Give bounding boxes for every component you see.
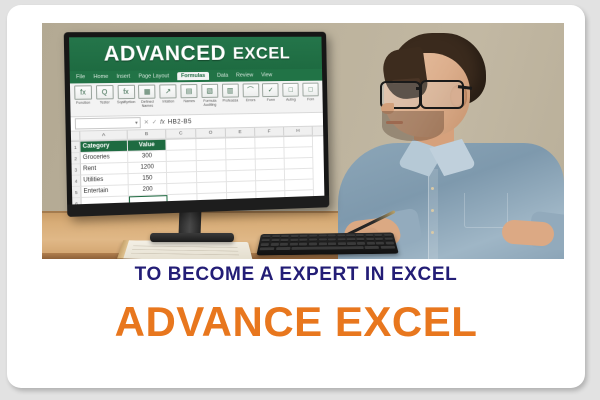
beard	[382, 111, 444, 141]
key	[270, 243, 279, 246]
row-header-5[interactable]: 5	[72, 187, 82, 199]
confirm-check-icon[interactable]: ✓	[152, 119, 157, 126]
key	[380, 246, 395, 249]
shirt-placket	[428, 169, 438, 259]
ribbon-button-label: Function	[76, 101, 90, 105]
ribbon-button-profeassa[interactable]: ▥Profeassa	[221, 84, 240, 103]
cell-C2[interactable]	[167, 150, 197, 162]
subheadline-text: TO BECOME A EXPERT IN EXCEL	[7, 264, 585, 286]
key	[290, 239, 298, 242]
ribbon-tab-home[interactable]: Home	[93, 74, 108, 80]
ribbon-button-function[interactable]: fxFunction	[73, 85, 93, 105]
grid-body[interactable]: 1CategoryValue2Groceries3003Rent12004Uti…	[71, 136, 324, 204]
ribbon-tab-page-layout[interactable]: Page Layout	[138, 73, 169, 79]
key	[328, 238, 336, 241]
key	[300, 239, 308, 242]
column-header-F[interactable]: F	[255, 127, 284, 136]
chevron-down-icon[interactable]: ▾	[135, 120, 138, 126]
key	[319, 234, 327, 237]
key	[272, 235, 280, 238]
keyboard[interactable]	[256, 233, 398, 256]
cell-H1[interactable]	[284, 136, 313, 147]
key	[276, 247, 291, 250]
cell-E1[interactable]	[226, 138, 255, 150]
shirt-pocket	[464, 193, 508, 228]
ribbon-button-label: Forn	[307, 97, 314, 101]
ribbon-button-label: Profeassa	[222, 98, 238, 102]
lips	[386, 121, 403, 124]
column-header-C[interactable]: C	[166, 129, 196, 139]
cell-C3[interactable]	[167, 161, 197, 173]
ribbon-icon: Q	[96, 85, 114, 99]
cell-E3[interactable]	[226, 159, 255, 171]
hero-photo: ADVANCED EXCEL FileHomeInsertPage Layout…	[42, 23, 564, 259]
ribbon-tab-formulas[interactable]: Formulas	[177, 72, 209, 80]
key	[347, 242, 355, 245]
key	[356, 234, 364, 237]
key	[357, 242, 365, 245]
computer-monitor: ADVANCED EXCEL FileHomeInsertPage Layout…	[64, 32, 330, 217]
key	[290, 243, 298, 246]
ribbon-button-form[interactable]: ✓Form	[261, 83, 280, 102]
ribbon-command-strip: fxFunctionQTesterfxSqalfiyrtion▦Defined …	[70, 81, 323, 118]
key	[337, 234, 345, 237]
ribbon-tab-insert[interactable]: Insert	[116, 74, 130, 80]
ribbon-button-tester[interactable]: QTester	[95, 85, 115, 105]
notebook-rule	[131, 253, 239, 255]
ribbon-button-label: Formula Auditing	[201, 99, 220, 108]
ribbon-button-label: Names	[183, 99, 194, 103]
hand-left	[501, 219, 555, 247]
ribbon-icon: ▤	[180, 84, 197, 98]
eyeglasses-bridge	[416, 87, 422, 90]
spreadsheet-grid[interactable]: ABCOEFH 1CategoryValue2Groceries3003Rent…	[71, 126, 324, 204]
headline-text: ADVANCE EXCEL	[7, 298, 585, 346]
ribbon-button-forn[interactable]: □Forn	[302, 83, 320, 102]
grid-corner-cell[interactable]	[71, 131, 81, 140]
key	[261, 239, 270, 242]
key	[338, 238, 346, 241]
ribbon-button-label: Auting	[286, 98, 296, 102]
key	[281, 235, 289, 238]
key	[260, 243, 269, 246]
formula-input[interactable]: HB2-B5	[168, 118, 192, 125]
key	[299, 243, 307, 246]
ribbon-icon: ✓	[262, 83, 279, 97]
ribbon-button-formula-auditing[interactable]: ▧Formula Auditing	[200, 84, 219, 107]
ribbon-button-defined-names[interactable]: ▦Defined Names	[137, 85, 157, 109]
insert-function-icon[interactable]: fx	[160, 119, 165, 125]
row-header-1[interactable]: 1	[71, 142, 81, 153]
ribbon-icon: ▦	[138, 85, 155, 99]
column-header-O[interactable]: O	[196, 128, 226, 138]
ribbon-tab-data[interactable]: Data	[217, 73, 228, 79]
notebook-rule	[132, 249, 238, 251]
ribbon-icon: ⌒	[242, 83, 259, 97]
ribbon-tab-file[interactable]: File	[76, 74, 85, 80]
key	[280, 243, 288, 246]
cell-F3[interactable]	[256, 159, 285, 171]
row-header-2[interactable]: 2	[71, 153, 81, 165]
key	[338, 242, 346, 245]
key	[347, 234, 355, 237]
ribbon-button-intation[interactable]: ↗Intation	[159, 84, 178, 104]
column-header-E[interactable]: E	[226, 128, 255, 138]
banner-word-excel: EXCEL	[233, 43, 291, 63]
key	[271, 239, 279, 242]
column-header-B[interactable]: B	[128, 130, 167, 140]
ribbon-button-label: Defined Names	[138, 100, 157, 109]
cell-C1[interactable]	[166, 139, 196, 151]
keyboard-row	[257, 245, 397, 251]
key	[300, 235, 308, 238]
ribbon-button-names[interactable]: ▤Names	[179, 84, 198, 103]
ribbon-tab-review[interactable]: Review	[236, 72, 253, 78]
key	[309, 243, 317, 246]
cell-O3[interactable]	[197, 160, 227, 172]
ribbon-icon: □	[282, 83, 299, 97]
ribbon-icon: ▥	[222, 84, 239, 98]
ribbon-icon: fx	[74, 85, 92, 100]
monitor-stand-base	[150, 233, 234, 242]
key	[366, 242, 375, 245]
key	[309, 238, 317, 241]
key	[386, 242, 395, 245]
ribbon-button-label: Errors	[246, 98, 256, 102]
ribbon-button-label: Tester	[100, 100, 110, 104]
ribbon-icon: fx	[117, 85, 135, 99]
cell-F2[interactable]	[255, 148, 284, 160]
ribbon-button-label: Intation	[162, 99, 174, 103]
excel-title-banner: ADVANCED EXCEL	[69, 37, 322, 71]
key	[259, 247, 274, 250]
cell-O2[interactable]	[197, 149, 227, 161]
cell-O1[interactable]	[196, 138, 226, 150]
ribbon-button-label: Sqalfiyrtion	[117, 100, 135, 104]
column-header-A[interactable]: A	[80, 131, 128, 141]
monitor-screen: ADVANCED EXCEL FileHomeInsertPage Layout…	[69, 37, 324, 205]
person-figure	[332, 23, 564, 259]
key	[309, 234, 317, 237]
cell-H3[interactable]	[285, 158, 314, 170]
column-header-H[interactable]: H	[284, 127, 313, 136]
ribbon-tab-view[interactable]: View	[261, 72, 272, 78]
key	[319, 238, 327, 241]
ribbon-icon: ↗	[159, 84, 176, 98]
cell-F1[interactable]	[255, 137, 284, 149]
cancel-icon[interactable]: ✕	[144, 119, 149, 126]
ribbon-icon: ▧	[201, 84, 218, 98]
ribbon-button-auting[interactable]: □Auting	[282, 83, 300, 102]
key	[262, 235, 270, 238]
name-box[interactable]: ▾	[75, 117, 141, 129]
key	[375, 238, 384, 241]
notebook-rule	[133, 246, 237, 248]
ribbon-button-label: Form	[267, 98, 275, 102]
key	[356, 238, 364, 241]
key	[328, 234, 336, 237]
row-header-3[interactable]: 3	[72, 164, 82, 176]
ribbon-button-sqalfiyrtion[interactable]: fxSqalfiyrtion	[116, 85, 136, 105]
cell-H2[interactable]	[284, 147, 313, 159]
key	[385, 238, 394, 241]
key	[366, 238, 374, 241]
key	[365, 234, 373, 237]
cell-E2[interactable]	[226, 149, 255, 161]
banner-word-advanced: ADVANCED	[104, 41, 227, 66]
key	[347, 238, 355, 241]
key	[376, 242, 385, 245]
row-header-4[interactable]: 4	[72, 175, 82, 187]
key	[374, 234, 382, 237]
ribbon-button-errors[interactable]: ⌒Errors	[241, 83, 260, 102]
key	[319, 242, 327, 245]
key	[384, 234, 392, 237]
slide-card: ADVANCED EXCEL FileHomeInsertPage Layout…	[7, 5, 585, 388]
spacebar-key	[292, 246, 364, 250]
ribbon-icon: □	[302, 83, 318, 97]
key	[365, 246, 380, 249]
key	[280, 239, 288, 242]
open-notebook	[117, 240, 253, 259]
monitor-stand-neck	[179, 209, 202, 235]
key	[290, 235, 298, 238]
key	[328, 242, 336, 245]
